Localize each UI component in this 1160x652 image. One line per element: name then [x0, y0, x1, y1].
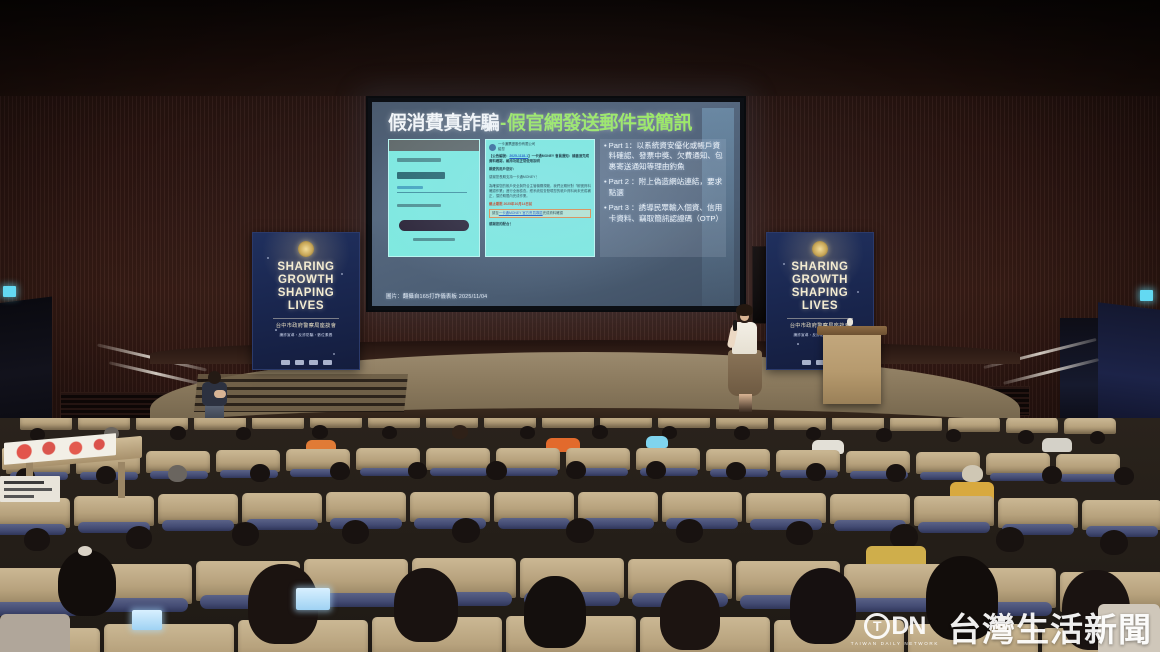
slide-bullet-list: • Part 1：以系統資安優化或帳戶資料確認、發票中獎、欠費通知、包裹寄送通知… — [600, 139, 726, 257]
slide-title-part1: 假消費真詐騙 — [388, 114, 499, 134]
crew-head — [208, 371, 221, 384]
banner-sponsor-logos — [253, 360, 359, 365]
email-greeting: 親愛的用戶您好： — [489, 167, 591, 172]
event-banner-left: SHARING GROWTH SHAPING LIVES 台中市政府警察局座談會… — [252, 232, 360, 370]
email-line-2: 為確保您的帳戶安全與符合主管機關規範，我們近期針對「帳號資料確認作業」進行全面檢… — [489, 184, 591, 199]
audience-head-foreground — [524, 576, 586, 648]
exit-sign-right-icon — [1140, 290, 1153, 301]
right-doorway-inner — [1060, 318, 1100, 430]
banner-line-2: GROWTH — [253, 274, 359, 287]
slide-title-dash: - — [500, 114, 506, 134]
slide-content: 假消費真詐騙 - 假官網發送郵件或簡訊 — [372, 102, 740, 306]
email-sender-sub: 給您 — [498, 147, 535, 152]
projection-screen: 假消費真詐騙 - 假官網發送郵件或簡訊 — [366, 96, 746, 312]
bullet-dot-icon: • — [604, 203, 607, 224]
banner-divider — [273, 318, 339, 319]
podium — [823, 332, 881, 404]
outlet-name: 台灣生活新聞 — [948, 613, 1152, 646]
audience-head-foreground — [58, 550, 116, 616]
banner-line-2: GROWTH — [767, 274, 873, 287]
hair-tie — [78, 546, 92, 556]
banner-tagline: 識詐宣導・反詐防騙・數位素養 — [253, 333, 359, 338]
tdn-circle-icon: T — [864, 613, 890, 639]
table-leg — [118, 462, 125, 498]
slide-title-part2: 假官網發送郵件或簡訊 — [507, 114, 692, 134]
auditorium-scene: 假消費真詐騙 - 假官網發送郵件或簡訊 — [0, 0, 1160, 652]
crew-hands — [214, 390, 226, 398]
podium-top — [817, 326, 887, 335]
audience-head-foreground — [790, 568, 856, 644]
login-input-placeholder — [397, 204, 441, 207]
tdn-tagline: TAIWAN DAILY NETWORK — [851, 641, 939, 646]
login-field-underline — [397, 192, 467, 193]
email-closing: 感謝您的配合！ — [489, 222, 591, 227]
banner-line-3: SHAPING — [767, 287, 873, 300]
login-app-bar — [389, 140, 479, 151]
login-field-label — [397, 186, 423, 189]
banner-headline: SHARING GROWTH SHAPING LIVES — [767, 261, 873, 313]
banner-subtitle: 台中市政府警察局座談會 — [253, 323, 359, 331]
banner-divider — [787, 318, 853, 319]
sender-avatar — [489, 144, 496, 151]
login-heading — [397, 172, 445, 179]
audience-smartphone[interactable] — [296, 588, 330, 610]
email-line-1: 感謝您長期支持一卡通MONEY！ — [489, 175, 591, 180]
left-doorway — [0, 297, 52, 436]
banner-line-4: LIVES — [767, 300, 873, 313]
slide-body: 一卡通票證股份有限公司 給您 【公告編號：2025-1118-1】一卡通MONE… — [380, 139, 732, 257]
presenter-skirt — [728, 350, 762, 396]
slide-bullet-item: • Part 2 ：附上偽造網站連結，要求點選 — [604, 177, 724, 198]
login-submit-button[interactable] — [399, 220, 469, 231]
login-app-label — [397, 158, 441, 162]
exit-sign-left-icon — [3, 286, 16, 297]
tdn-logo: T DN TAIWAN DAILY NETWORK — [851, 613, 939, 646]
banner-line-1: SHARING — [253, 261, 359, 274]
handheld-microphone-icon — [733, 320, 737, 331]
slide-source-caption: 圖片：翻攝自165打詐儀表板 2025/11/04 — [386, 292, 487, 300]
email-deadline: 截止期限 2025年10月14日前 — [489, 202, 591, 207]
email-subject: 【公告編號：2025-1118-1】一卡通MONEY 會員通知：請盡速完成資料確… — [489, 154, 591, 164]
tdn-logo-row: T DN — [864, 613, 925, 639]
presenter-hair — [736, 304, 753, 316]
banner-crest-icon — [812, 241, 828, 257]
audience-head-foreground — [394, 568, 458, 642]
audience-shoulders — [0, 614, 70, 652]
phishing-email-screenshot: 一卡通票證股份有限公司 給您 【公告編號：2025-1118-1】一卡通MONE… — [485, 139, 595, 257]
email-action-link[interactable]: 一卡通MONEY 官方會員專區 — [499, 211, 543, 215]
bullet-dot-icon: • — [604, 141, 607, 172]
bullet-dot-icon: • — [604, 177, 607, 198]
slide-title: 假消費真詐騙 - 假官網發送郵件或簡訊 — [388, 114, 732, 134]
login-footer-link[interactable] — [413, 238, 455, 241]
banner-crest-icon — [298, 241, 314, 257]
presenter-legs — [739, 394, 752, 412]
tdn-letters: DN — [891, 614, 925, 639]
email-sender-row: 一卡通票證股份有限公司 給您 — [486, 140, 594, 154]
audience-head-foreground — [660, 580, 720, 650]
info-poster-front — [0, 476, 60, 502]
audience-smartphone[interactable] — [132, 610, 162, 630]
news-watermark: T DN TAIWAN DAILY NETWORK 台灣生活新聞 — [851, 613, 1152, 646]
email-action-box: 請至一卡通MONEY 官方會員專區完成資料確認 — [489, 209, 591, 218]
bullet-text: Part 3 ：誘導民眾輸入個資、信用卡資料、竊取簡訊認證碼（OTP） — [609, 203, 724, 224]
bullet-text: Part 2 ：附上偽造網站連結，要求點選 — [609, 177, 724, 198]
slide-bullet-item: • Part 1：以系統資安優化或帳戶資料確認、發票中獎、欠費通知、包裹寄送通知… — [604, 141, 724, 172]
bullet-text: Part 1：以系統資安優化或帳戶資料確認、發票中獎、欠費通知、包裹寄送通知等理… — [609, 141, 724, 172]
banner-line-3: SHAPING — [253, 287, 359, 300]
email-subject-code: 2025-1118-1 — [509, 154, 528, 158]
projected-slide: 假消費真詐騙 - 假官網發送郵件或簡訊 — [372, 102, 740, 306]
fake-login-screenshot — [388, 139, 480, 257]
banner-headline: SHARING GROWTH SHAPING LIVES — [253, 261, 359, 313]
podium-microphone-icon — [847, 318, 853, 326]
slide-bullet-item: • Part 3 ：誘導民眾輸入個資、信用卡資料、竊取簡訊認證碼（OTP） — [604, 203, 724, 224]
banner-line-4: LIVES — [253, 300, 359, 313]
